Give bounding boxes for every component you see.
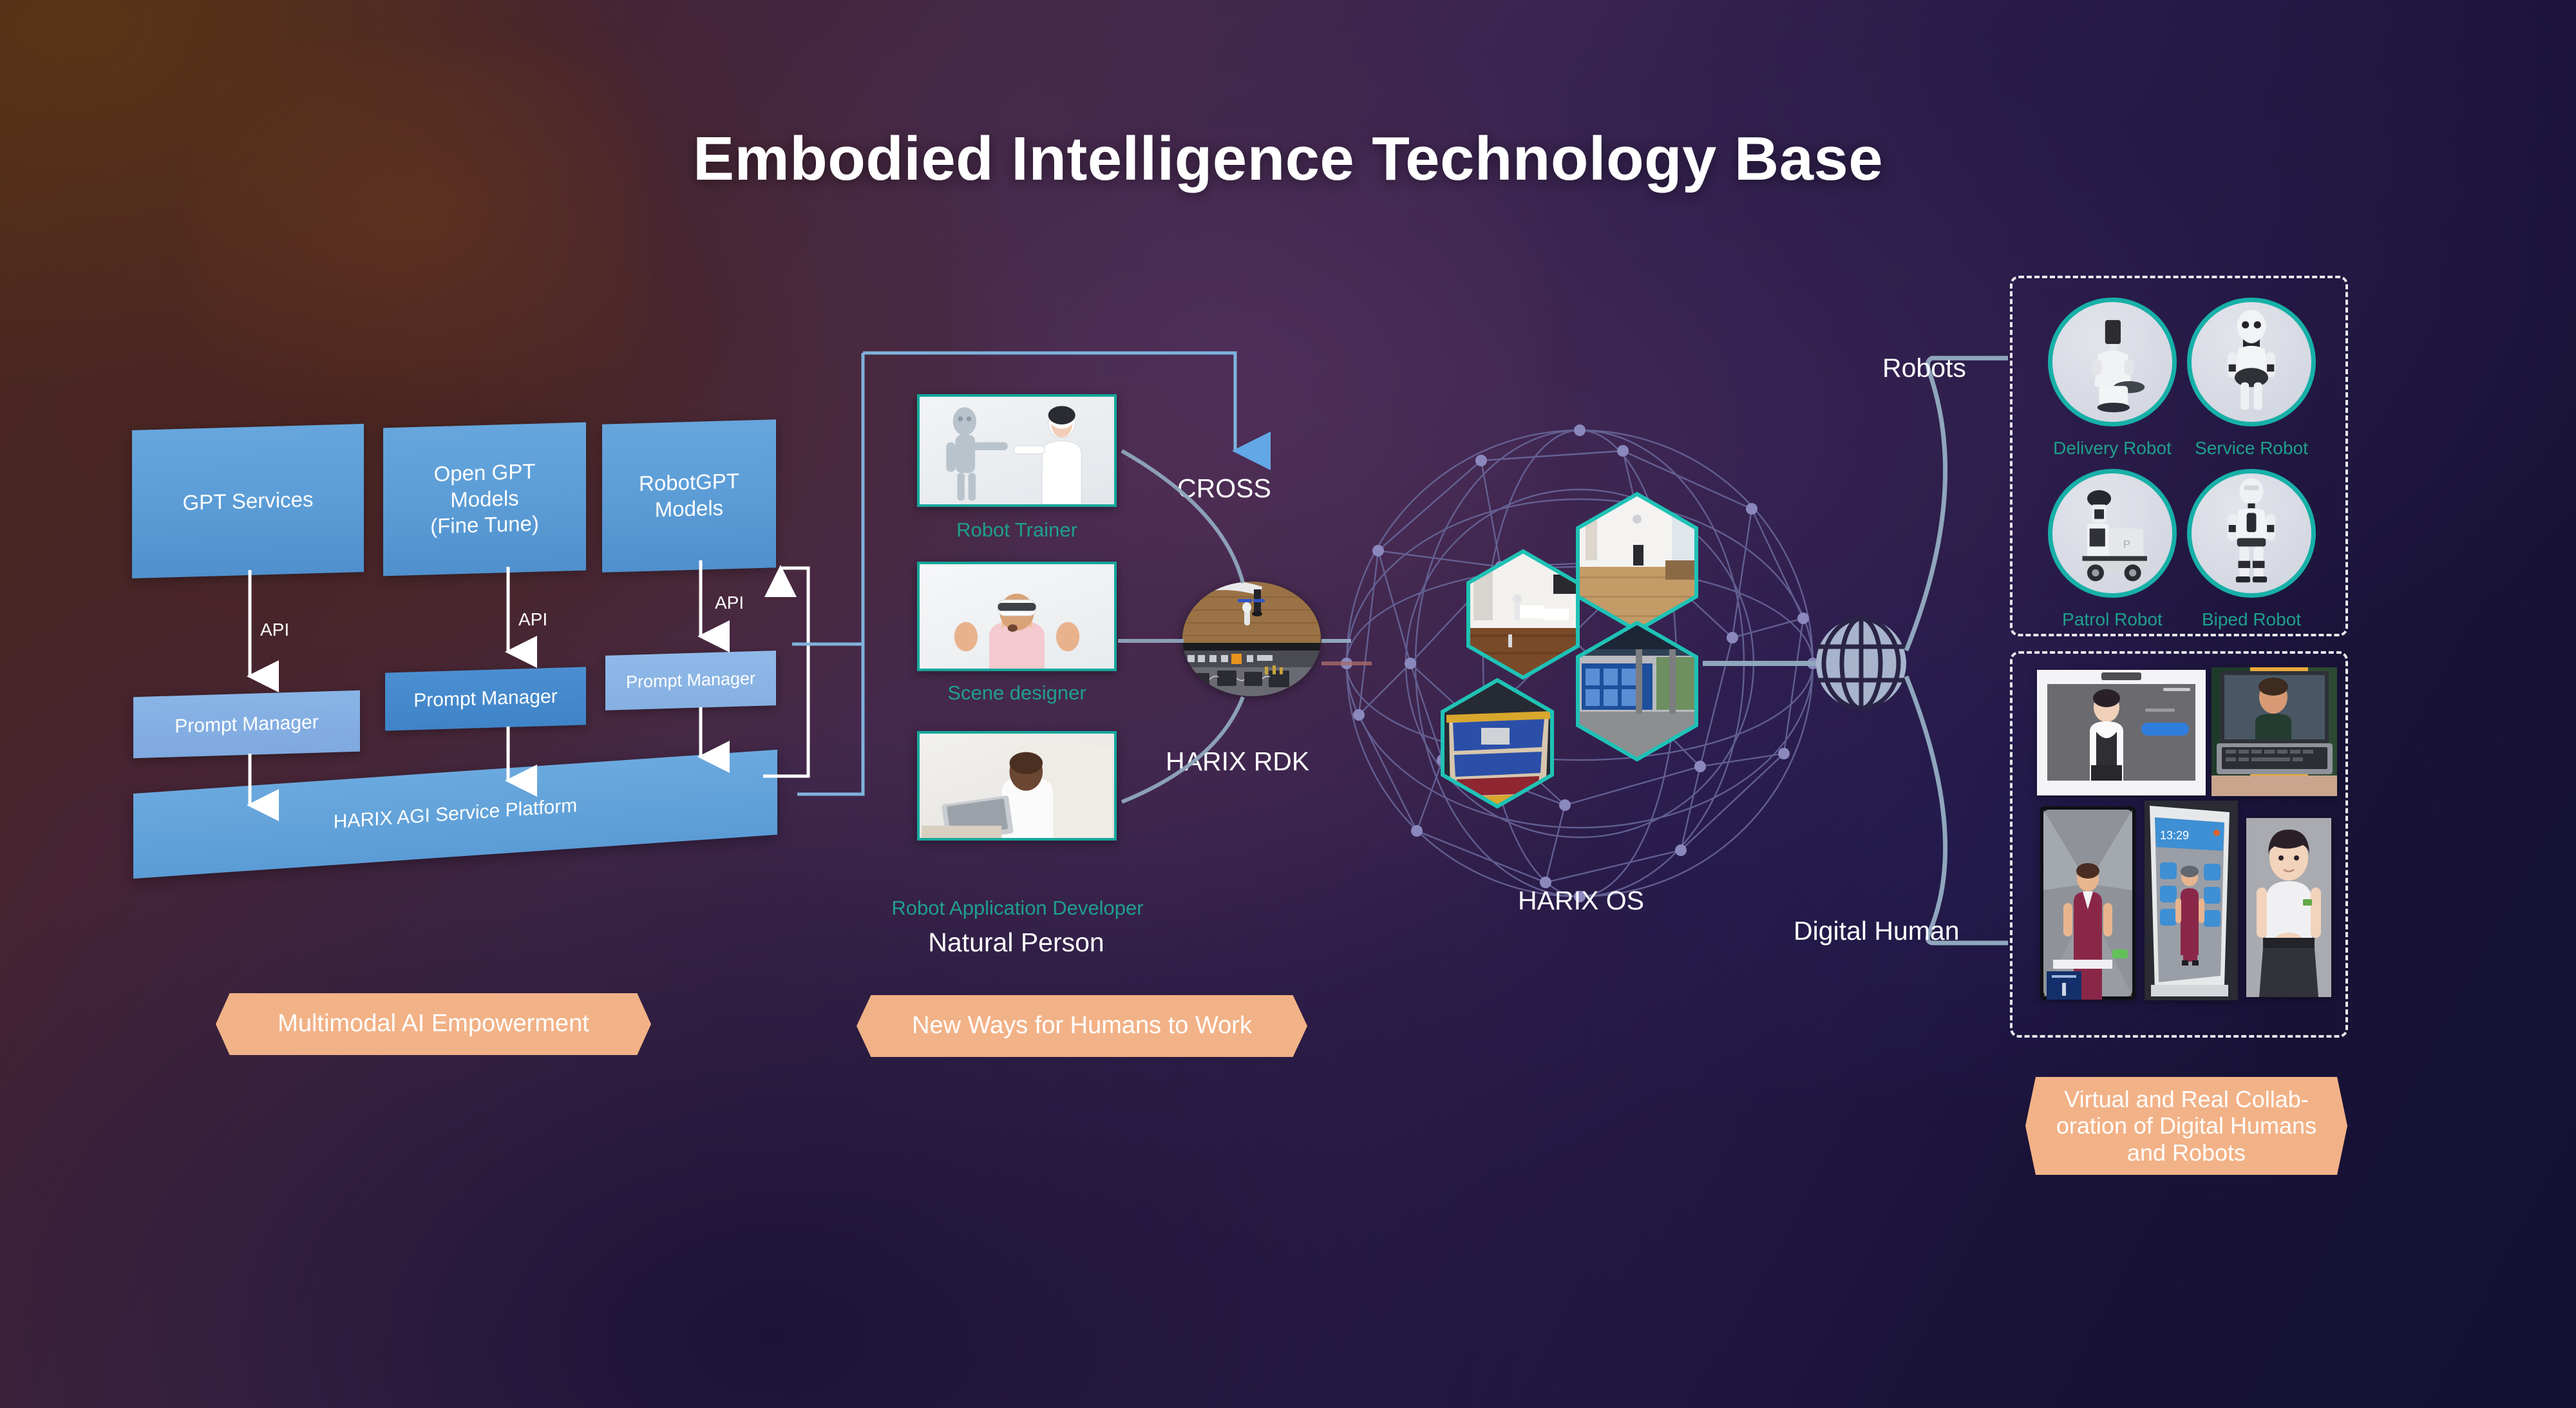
tile-totem-avatar[interactable]: 13:29 [2145,801,2238,1000]
robot-handshake-photo [920,397,1114,504]
svg-text:13:29: 13:29 [2160,829,2189,842]
infographic-canvas: Embodied Intelligence Technology Base GP… [0,0,2576,1408]
ribbon-virtual-real-collaboration[interactable]: Virtual and Real Collab- oration of Digi… [2025,1077,2347,1175]
3d-girl-avatar-photo [2246,818,2331,997]
rdk-ellipse-thumbnail[interactable] [1182,582,1321,696]
box-robotgpt-models[interactable]: RobotGPT Models [602,419,776,573]
laptop-developer-photo [920,734,1114,838]
label-harix-rdk: HARIX RDK [1166,747,1309,777]
patrol-robot-photo: P [2052,473,2172,593]
auditorium-scene [1443,676,1555,812]
kiosk-screen-avatar-photo [2037,670,2206,795]
caption-robot-trainer: Robot Trainer [917,518,1117,542]
api-label-3: API [715,593,744,613]
totem-display-avatar-photo: 13:29 [2145,801,2238,1000]
hotel-lobby-scene [1468,547,1581,680]
ribbon-1-label: Multimodal AI Empowerment [278,1010,589,1038]
label-digital-human: Digital Human [1794,916,1960,946]
box-gpt-services[interactable]: GPT Services [132,424,364,578]
tile-phone-avatar[interactable] [2040,806,2136,1000]
photo-scene-designer[interactable] [917,562,1117,671]
phone-avatar-photo [2040,806,2136,1000]
caption-scene-designer: Scene designer [917,681,1117,705]
ribbon-3-label: Virtual and Real Collab- oration of Digi… [2056,1086,2316,1165]
tile-laptop-avatar[interactable] [2211,667,2337,796]
ribbon-multimodal-ai-empowerment[interactable]: Multimodal AI Empowerment [216,993,651,1055]
ribbon-2-label: New Ways for Humans to Work [912,1012,1252,1040]
circle-biped-robot[interactable] [2187,469,2316,598]
label-harix-os: HARIX OS [1517,886,1645,916]
box-prompt-manager-3[interactable]: Prompt Manager [605,651,776,710]
box-gpt-services-label: GPT Services [183,486,314,517]
photo-robot-trainer[interactable] [917,394,1117,507]
bedroom-scene [1578,490,1700,638]
box-prompt-manager-1[interactable]: Prompt Manager [133,690,360,758]
biped-robot-photo [2192,473,2311,593]
3d-editor-ellipse-thumbnail [1182,582,1321,696]
label-robots: Robots [1882,353,1966,383]
tile-kiosk-avatar[interactable] [2037,670,2206,795]
label-biped-robot: Biped Robot [2168,609,2335,630]
box-open-gpt-models[interactable]: Open GPT Models (Fine Tune) [383,423,586,576]
api-label-1: API [260,620,289,640]
api-label-2: API [518,609,547,630]
photo-robot-app-developer[interactable] [917,731,1117,841]
label-cross: CROSS [1177,473,1271,504]
platform-label: HARIX AGI Service Platform [334,795,577,833]
circle-patrol-robot[interactable]: P [2048,469,2177,598]
delivery-robot-photo [2052,302,2172,422]
label-natural-person: Natural Person [913,928,1119,958]
label-service-robot: Service Robot [2168,438,2335,459]
box-prompt-manager-2-label: Prompt Manager [413,686,557,712]
service-robot-photo [2192,302,2311,422]
svg-text:P: P [2123,538,2130,550]
ambient-glow-left [193,52,644,386]
retail-store-scene [1578,618,1700,766]
tile-3d-girl-avatar[interactable] [2246,818,2331,997]
box-robotgpt-models-label: RobotGPT Models [639,468,739,524]
box-prompt-manager-3-label: Prompt Manager [626,669,755,692]
box-prompt-manager-2[interactable]: Prompt Manager [385,667,586,730]
box-prompt-manager-1-label: Prompt Manager [175,711,318,737]
circle-delivery-robot[interactable] [2048,298,2177,426]
page-title: Embodied Intelligence Technology Base [0,124,2576,195]
box-open-gpt-models-label: Open GPT Models (Fine Tune) [430,458,539,540]
vr-headset-photo [920,564,1114,669]
ribbon-new-ways-for-humans-to-work[interactable]: New Ways for Humans to Work [857,995,1307,1057]
laptop-video-avatar-photo [2211,667,2337,796]
bar-harix-agi-service-platform[interactable]: HARIX AGI Service Platform [133,750,777,879]
circle-service-robot[interactable] [2187,298,2316,426]
caption-robot-app-developer: Robot Application Developer [857,897,1179,920]
